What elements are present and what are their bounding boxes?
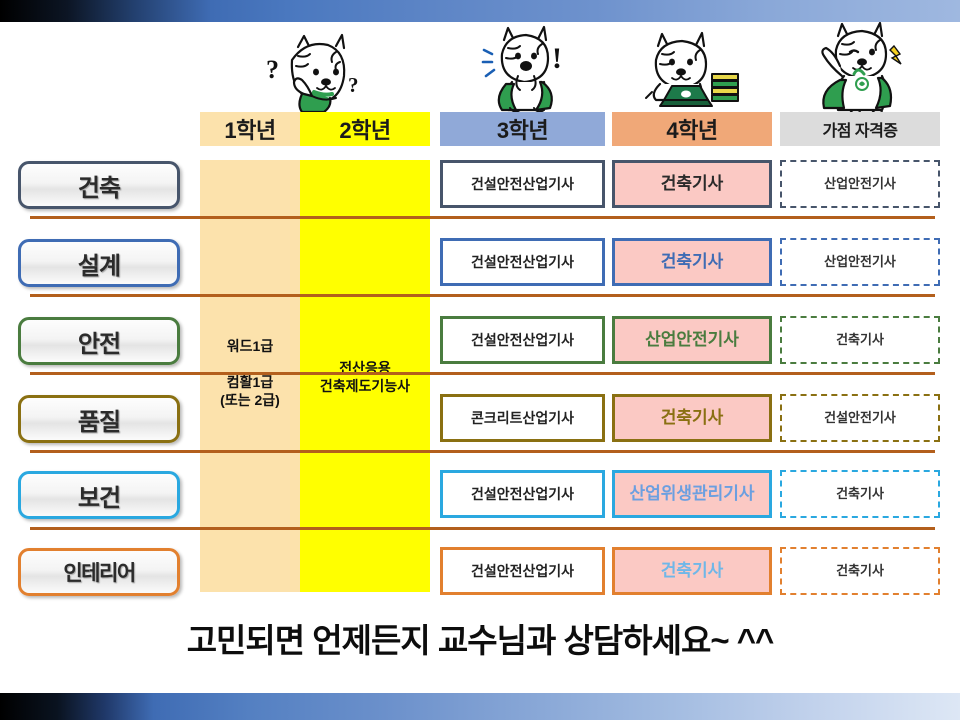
track-label-품질[interactable]: 품질 <box>18 395 180 443</box>
cert-year4-안전[interactable]: 산업안전기사 <box>612 316 772 364</box>
cert-year4-보건[interactable]: 산업위생관리기사 <box>612 470 772 518</box>
tiger-cheering-icon <box>806 22 916 116</box>
tiger-thinking-icon: ? ? <box>252 30 364 112</box>
row-separator-4 <box>30 450 935 453</box>
header-bonus: 가점 자격증 <box>780 112 940 146</box>
cert-bonus-보건[interactable]: 건축기사 <box>780 470 940 518</box>
row-separator-2 <box>30 294 935 297</box>
header-year3: 3학년 <box>440 112 605 146</box>
svg-text:?: ? <box>266 55 279 84</box>
row-separator-5 <box>30 527 935 530</box>
year2-cert-line2: 건축제도기능사 <box>320 378 410 394</box>
row-separator-1 <box>30 216 935 219</box>
year1-cert-2-line1: 컴활1급 <box>227 374 273 390</box>
tiger-studying-icon <box>634 28 744 110</box>
top-banner <box>0 0 960 22</box>
header-year2: 2학년 <box>300 112 430 146</box>
track-label-보건[interactable]: 보건 <box>18 471 180 519</box>
cert-bonus-인테리어[interactable]: 건축기사 <box>780 547 940 595</box>
cert-bonus-품질[interactable]: 건설안전기사 <box>780 394 940 442</box>
cert-year3-보건[interactable]: 건설안전산업기사 <box>440 470 605 518</box>
caption-text: 고민되면 언제든지 교수님과 상담하세요~ ^^ <box>0 614 960 662</box>
row-separator-3 <box>30 372 935 375</box>
year1-cert-2: 컴활1급 (또는 2급) <box>200 374 300 409</box>
cert-year3-안전[interactable]: 건설안전산업기사 <box>440 316 605 364</box>
cert-year3-건축[interactable]: 건설안전산업기사 <box>440 160 605 208</box>
bottom-banner <box>0 693 960 720</box>
year1-cert-1: 워드1급 <box>200 338 300 356</box>
track-label-안전[interactable]: 안전 <box>18 317 180 365</box>
slide-root: ? ? ! <box>0 0 960 720</box>
track-label-설계[interactable]: 설계 <box>18 239 180 287</box>
svg-text:!: ! <box>552 42 562 75</box>
cert-year3-품질[interactable]: 콘크리트산업기사 <box>440 394 605 442</box>
cert-year4-건축[interactable]: 건축기사 <box>612 160 772 208</box>
year1-cert-2-line2: (또는 2급) <box>220 392 280 408</box>
track-label-건축[interactable]: 건축 <box>18 161 180 209</box>
cert-year4-설계[interactable]: 건축기사 <box>612 238 772 286</box>
svg-text:?: ? <box>348 73 359 97</box>
cert-bonus-건축[interactable]: 산업안전기사 <box>780 160 940 208</box>
cert-year4-품질[interactable]: 건축기사 <box>612 394 772 442</box>
cert-bonus-안전[interactable]: 건축기사 <box>780 316 940 364</box>
cert-year3-인테리어[interactable]: 건설안전산업기사 <box>440 547 605 595</box>
cert-year4-인테리어[interactable]: 건축기사 <box>612 547 772 595</box>
cert-bonus-설계[interactable]: 산업안전기사 <box>780 238 940 286</box>
tiger-surprised-icon: ! <box>472 24 572 114</box>
year2-cert: 전산응용 건축제도기능사 <box>300 360 430 395</box>
track-label-인테리어[interactable]: 인테리어 <box>18 548 180 596</box>
header-year1: 1학년 <box>200 112 300 146</box>
header-year4: 4학년 <box>612 112 772 146</box>
cert-year3-설계[interactable]: 건설안전산업기사 <box>440 238 605 286</box>
